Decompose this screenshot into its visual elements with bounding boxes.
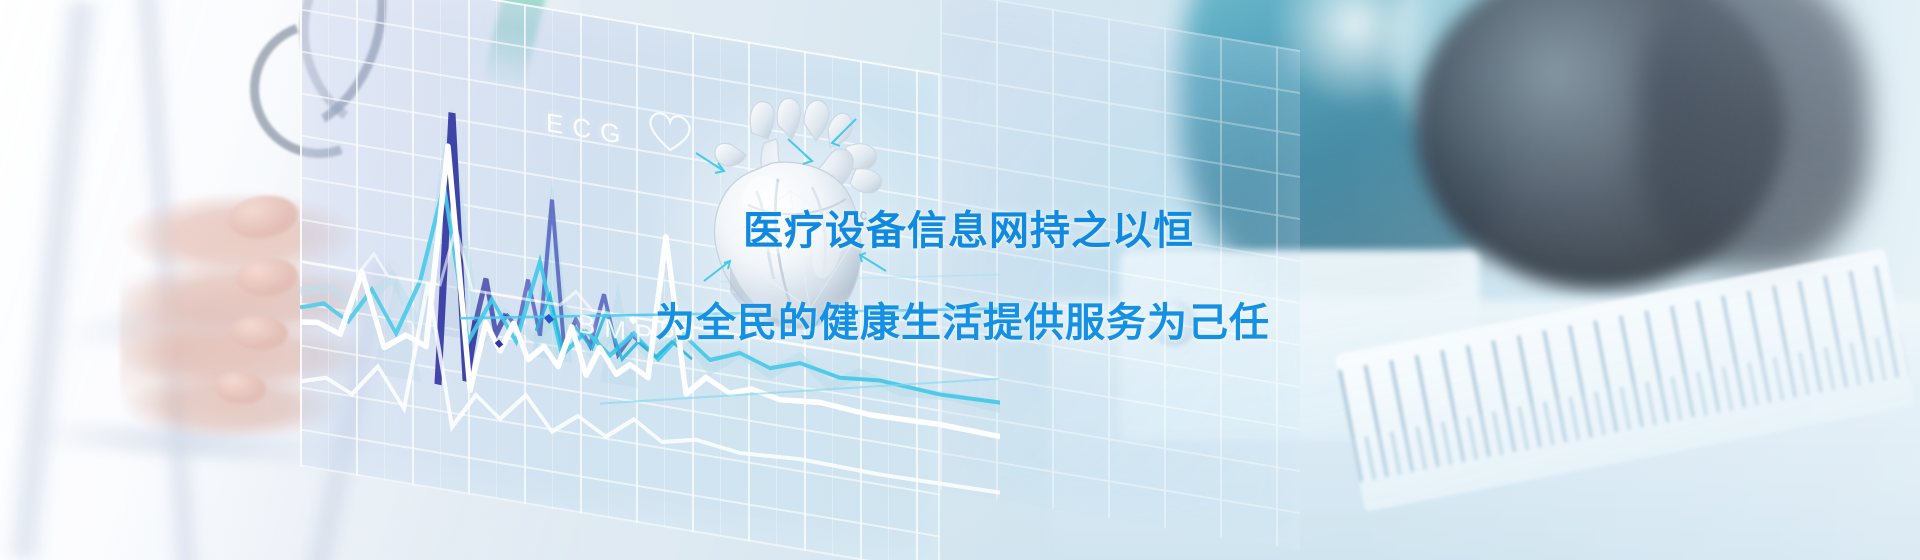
- headline-line-2: 为全民的健康生活提供服务为己任: [655, 290, 1270, 348]
- hero-banner: ECG BMP 68 s c: [0, 0, 1920, 560]
- headline-line-1: 医疗设备信息网持之以恒: [743, 198, 1194, 256]
